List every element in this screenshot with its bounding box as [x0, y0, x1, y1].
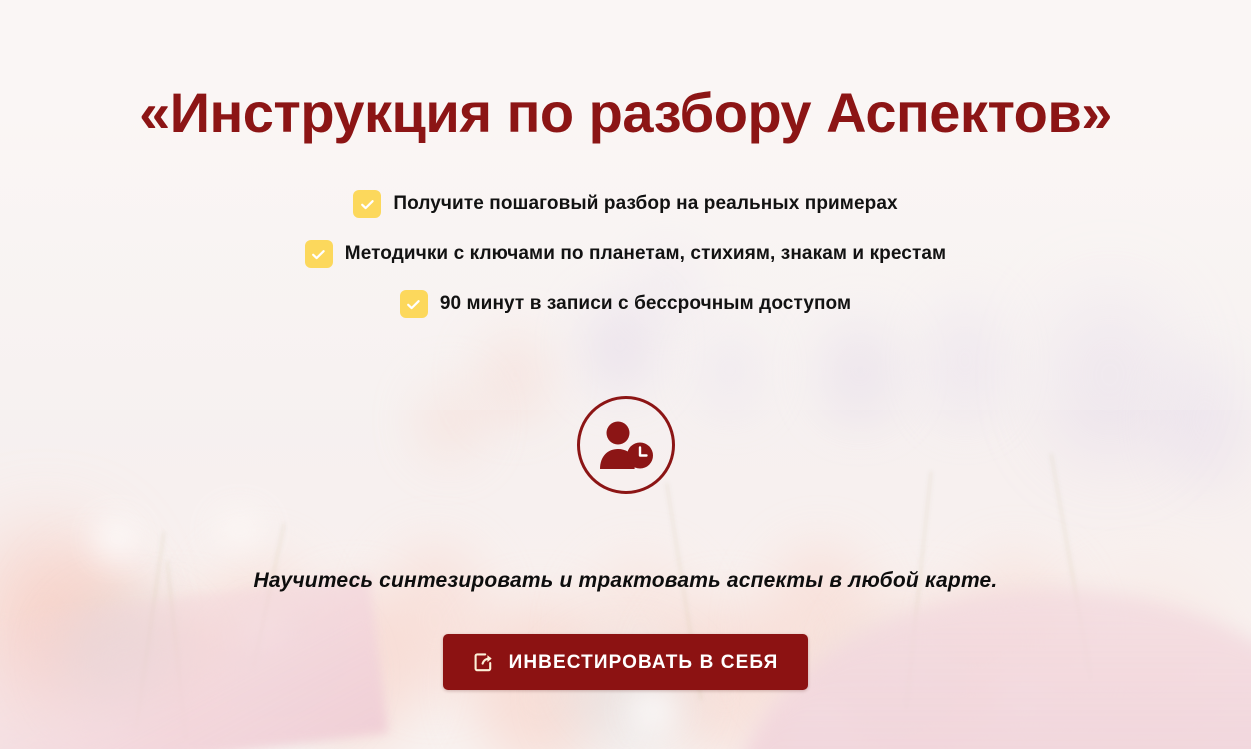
- benefit-item: Методички с ключами по планетам, стихиям…: [0, 238, 1251, 270]
- benefit-item: Получите пошаговый разбор на реальных пр…: [0, 188, 1251, 220]
- person-clock-icon: [597, 419, 655, 471]
- check-icon: [400, 290, 428, 318]
- benefit-item: 90 минут в записи с бессрочным доступом: [0, 288, 1251, 320]
- page-content: «Инструкция по разбору Аспектов» Получит…: [0, 0, 1251, 749]
- cta-label: ИНВЕСТИРОВАТЬ В СЕБЯ: [509, 653, 779, 672]
- landing-page: «Инструкция по разбору Аспектов» Получит…: [0, 0, 1251, 749]
- invest-in-yourself-button[interactable]: ИНВЕСТИРОВАТЬ В СЕБЯ: [443, 634, 809, 690]
- benefit-label: Методички с ключами по планетам, стихиям…: [345, 243, 946, 265]
- check-icon: [353, 190, 381, 218]
- person-clock-badge: [577, 396, 675, 494]
- benefit-label: Получите пошаговый разбор на реальных пр…: [393, 193, 897, 215]
- check-icon: [305, 240, 333, 268]
- benefits-list: Получите пошаговый разбор на реальных пр…: [0, 188, 1251, 338]
- benefit-label: 90 минут в записи с бессрочным доступом: [440, 293, 851, 315]
- cta-container: ИНВЕСТИРОВАТЬ В СЕБЯ: [0, 634, 1251, 690]
- tagline: Научитесь синтезировать и трактовать асп…: [0, 569, 1251, 593]
- page-title: «Инструкция по разбору Аспектов»: [0, 82, 1251, 144]
- share-export-icon: [473, 651, 495, 673]
